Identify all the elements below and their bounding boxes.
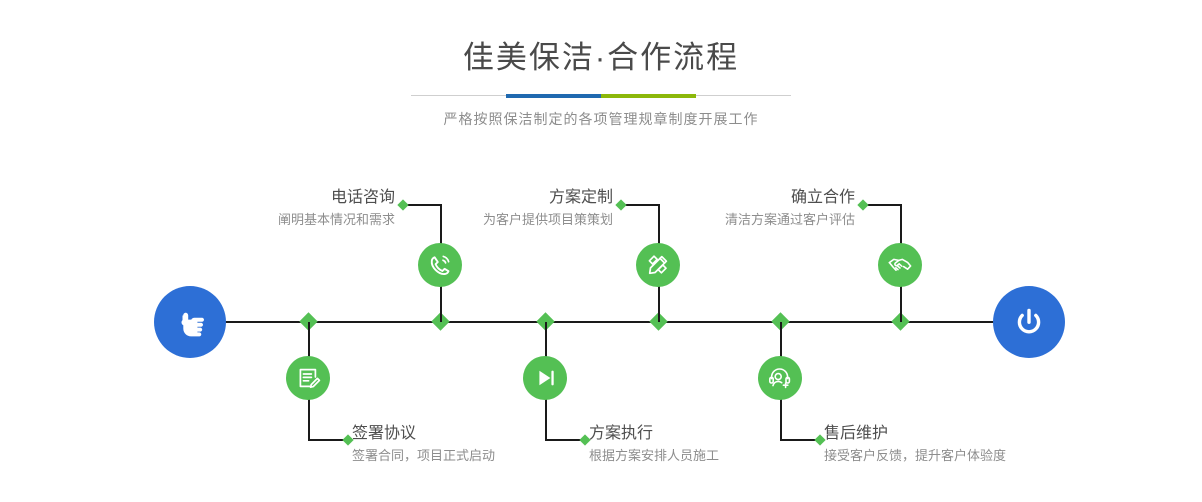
- step-title: 确立合作: [650, 187, 855, 209]
- step-desc: 签署合同，项目正式启动: [352, 446, 582, 466]
- cooperation-process-infographic: 佳美保洁·合作流程 严格按照保洁制定的各项管理规章制度开展工作: [0, 0, 1202, 502]
- document-sign-icon: [294, 364, 322, 392]
- branch-label-marker: [857, 199, 868, 210]
- step-icon-establish-cooperation: [878, 243, 922, 287]
- step-title: 方案定制: [408, 187, 613, 209]
- step-desc: 根据方案安排人员施工: [589, 446, 819, 466]
- timeline-end-endpoint: [993, 286, 1065, 358]
- step-text-top-2: 方案定制 为客户提供项目策策划: [408, 187, 613, 230]
- step-icon-sign-agreement: [286, 356, 330, 400]
- step-text-top-1: 电话咨询 阐明基本情况和需求: [190, 187, 395, 230]
- step-icon-plan-execution: [523, 356, 567, 400]
- step-icon-plan-custom: [636, 243, 680, 287]
- play-to-end-icon: [531, 364, 559, 392]
- step-desc: 接受客户反馈，提升客户体验度: [824, 446, 1084, 466]
- step-text-top-3: 确立合作 清洁方案通过客户评估: [650, 187, 855, 230]
- step-desc: 阐明基本情况和需求: [190, 210, 395, 230]
- step-text-bottom-1: 签署协议 签署合同，项目正式启动: [352, 423, 582, 466]
- step-desc: 为客户提供项目策策划: [408, 210, 613, 230]
- support-agent-icon: [766, 364, 794, 392]
- timeline-start-endpoint: [154, 286, 226, 358]
- phone-ring-icon: [426, 251, 454, 279]
- branch-horizontal-line: [545, 439, 583, 441]
- process-timeline: 电话咨询 阐明基本情况和需求 方案定制 为客户提供项目策策划: [0, 0, 1202, 502]
- step-title: 签署协议: [352, 423, 582, 445]
- handshake-icon: [886, 251, 914, 279]
- branch-horizontal-line: [780, 439, 818, 441]
- step-icon-phone-consult: [418, 243, 462, 287]
- power-icon: [1009, 302, 1049, 342]
- step-title: 电话咨询: [190, 187, 395, 209]
- branch-label-marker: [397, 199, 408, 210]
- branch-horizontal-line: [308, 439, 346, 441]
- step-text-bottom-2: 方案执行 根据方案安排人员施工: [589, 423, 819, 466]
- step-title: 方案执行: [589, 423, 819, 445]
- step-desc: 清洁方案通过客户评估: [650, 210, 855, 230]
- pencil-ruler-icon: [644, 251, 672, 279]
- branch-label-marker: [615, 199, 626, 210]
- step-text-bottom-3: 售后维护 接受客户反馈，提升客户体验度: [824, 423, 1084, 466]
- step-title: 售后维护: [824, 423, 1084, 445]
- step-icon-after-sales: [758, 356, 802, 400]
- hand-pointing-icon: [170, 302, 210, 342]
